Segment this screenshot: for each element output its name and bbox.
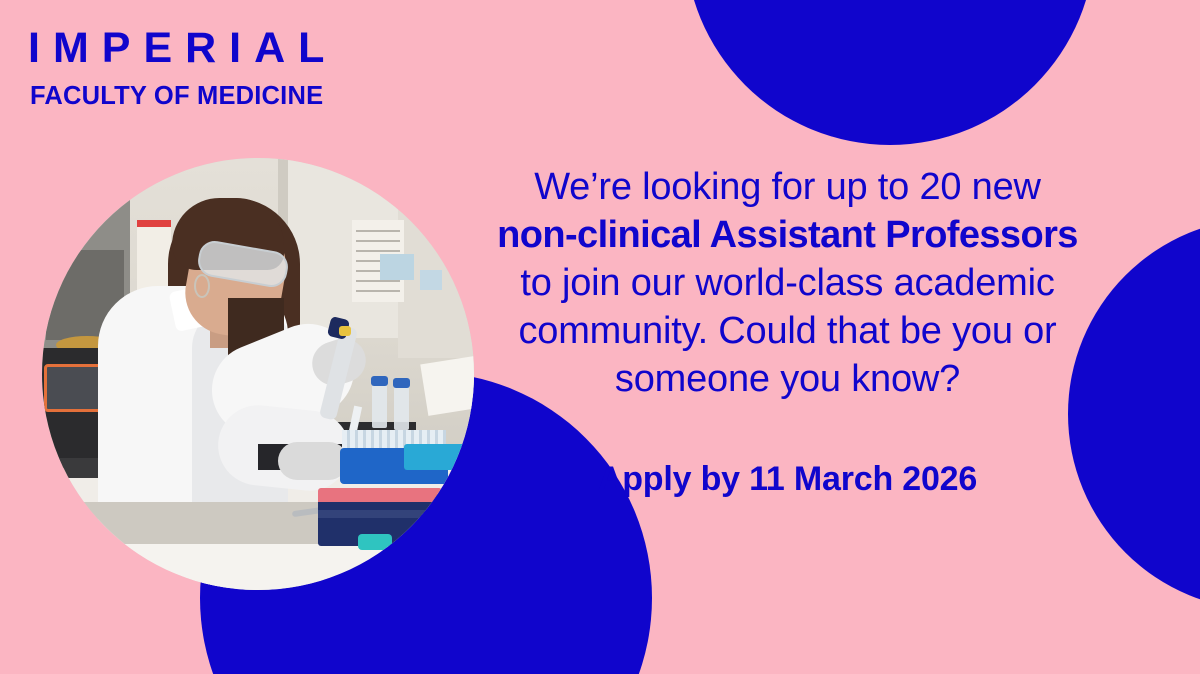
imperial-logo: IMPERIAL FACULTY OF MEDICINE bbox=[28, 24, 337, 111]
lab-scene-illustration bbox=[42, 158, 474, 590]
headline-line-5: someone you know? bbox=[470, 355, 1105, 403]
logo-subtitle: FACULTY OF MEDICINE bbox=[30, 81, 337, 111]
headline-line-4: community. Could that be you or bbox=[470, 307, 1105, 355]
logo-wordmark: IMPERIAL bbox=[28, 24, 337, 72]
headline-line-2: non-clinical Assistant Professors bbox=[470, 211, 1105, 259]
deadline-text: Apply by 11 March 2026 bbox=[470, 458, 1105, 500]
deadline: Apply by 11 March 2026 bbox=[470, 458, 1105, 500]
headline-line-3: to join our world-class academic bbox=[470, 259, 1105, 307]
scientist-photo bbox=[42, 158, 474, 590]
recruitment-poster: IMPERIAL FACULTY OF MEDICINE We’re looki… bbox=[0, 0, 1200, 674]
headline-line-1: We’re looking for up to 20 new bbox=[470, 163, 1105, 211]
decorative-circle-top-right bbox=[685, 0, 1095, 145]
headline: We’re looking for up to 20 new non-clini… bbox=[470, 163, 1105, 403]
